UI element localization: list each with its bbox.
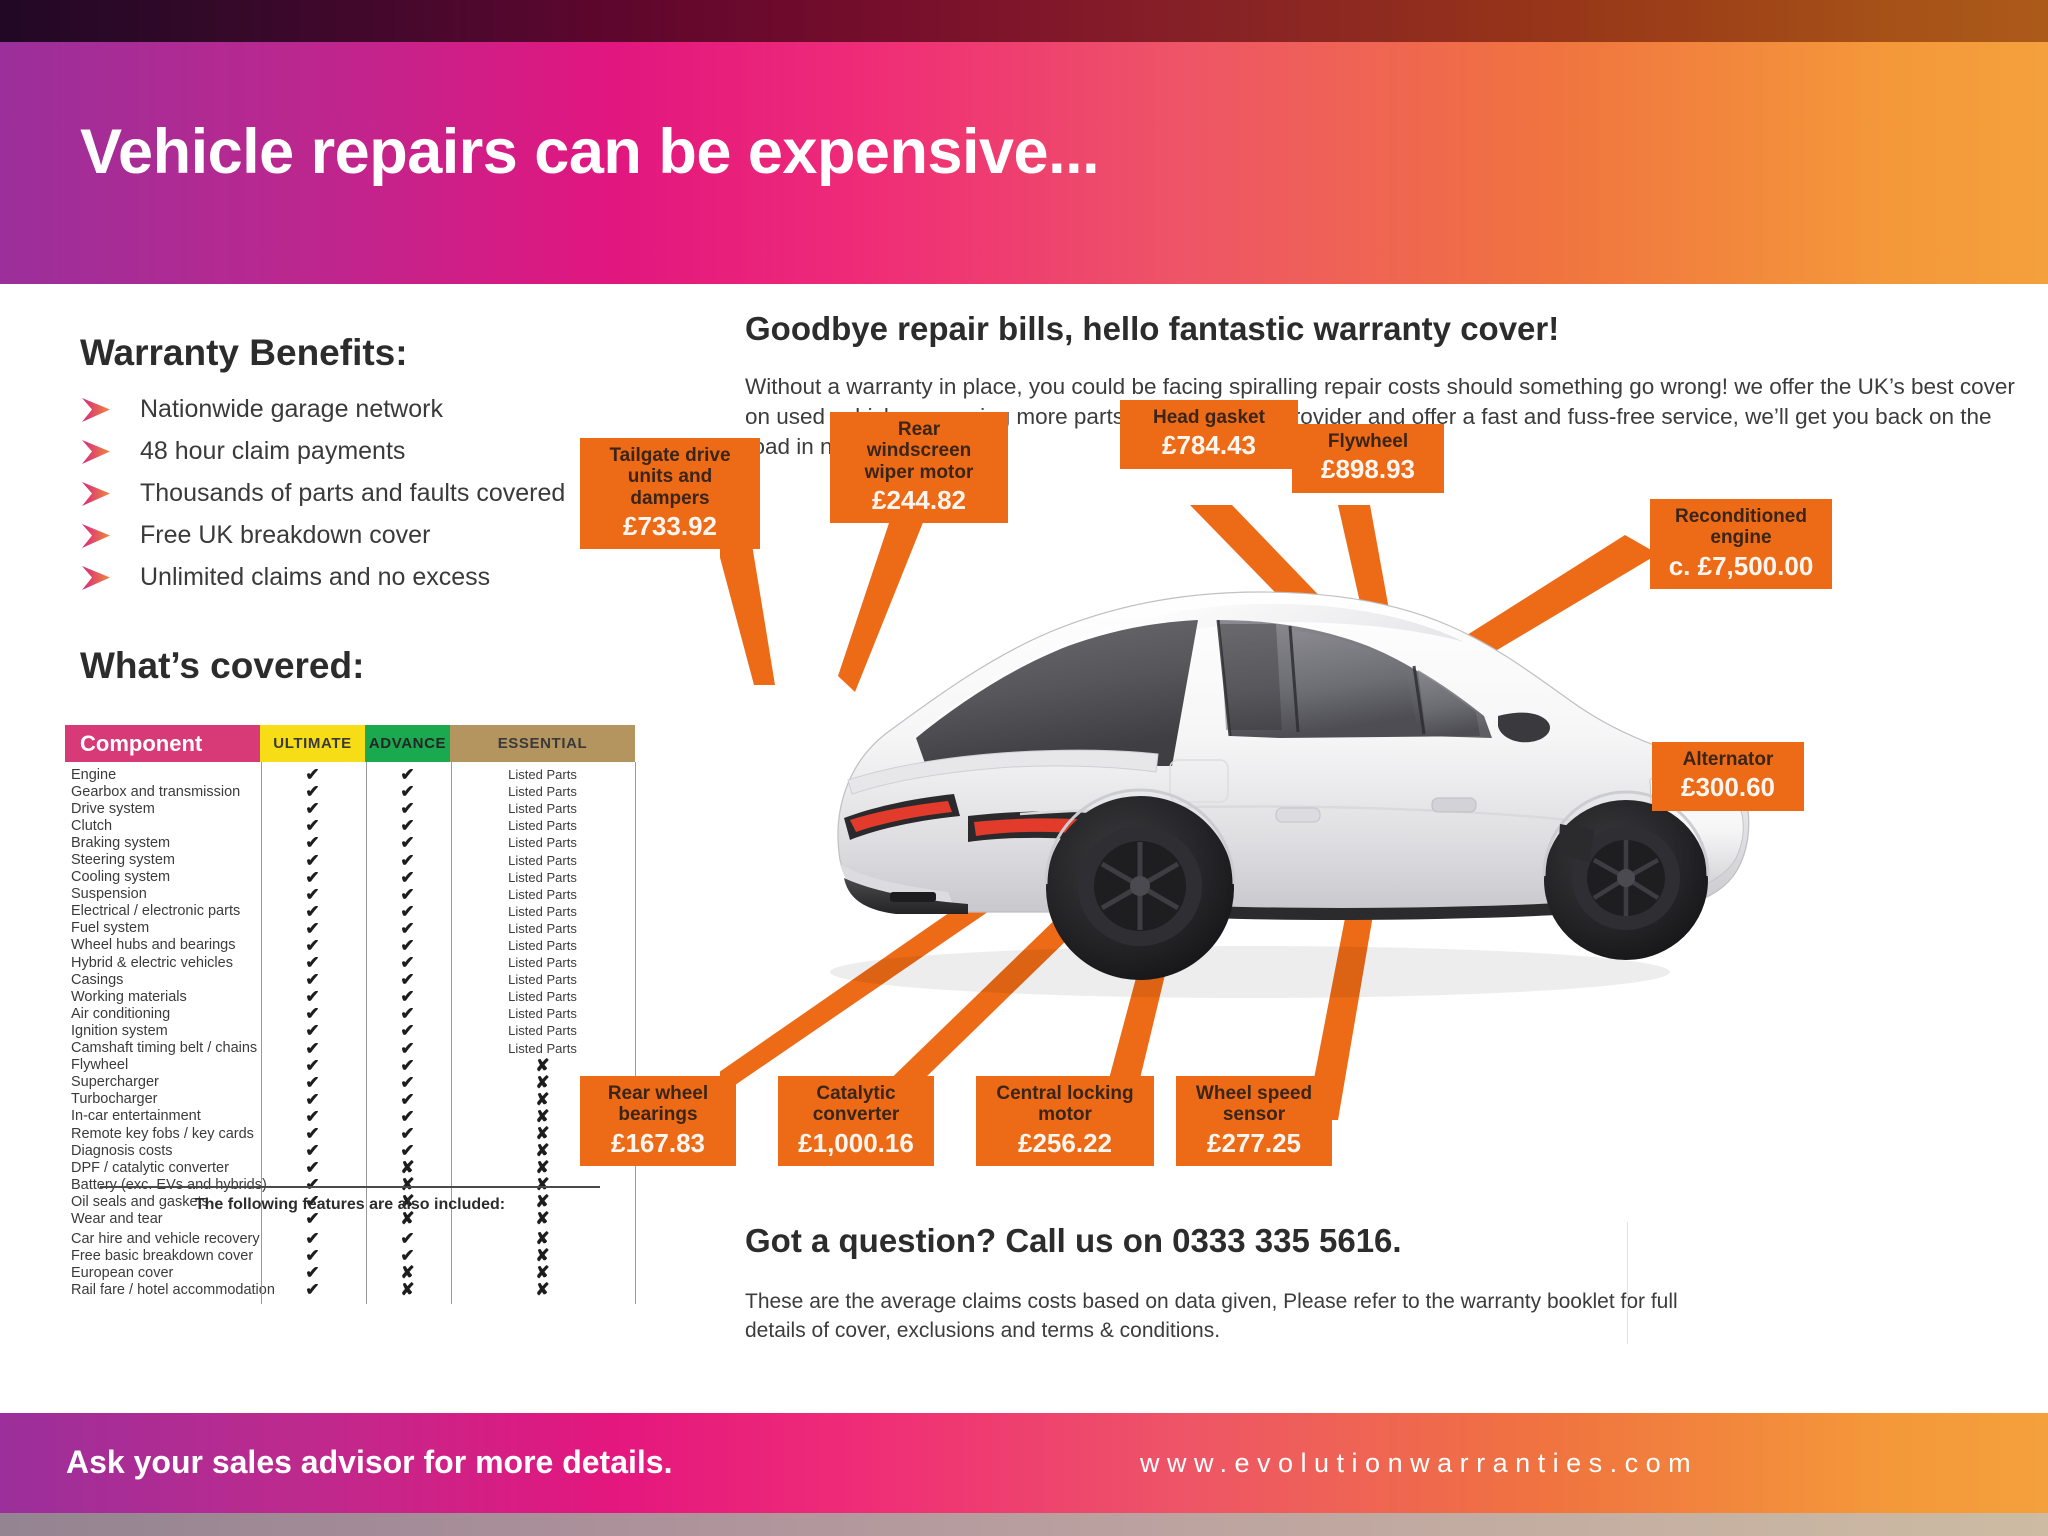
cell-advance: ✔ xyxy=(365,817,450,834)
car-diagram: Tailgate drive units and dampers £733.92… xyxy=(720,480,2040,1180)
callout-alternator: Alternator £300.60 xyxy=(1652,742,1804,811)
cell-ultimate: ✔ xyxy=(260,1264,365,1281)
callout-title: Wheel speed sensor xyxy=(1190,1083,1318,1126)
cell-essential: Listed Parts xyxy=(450,956,635,969)
warranty-benefits-heading: Warranty Benefits: xyxy=(80,332,408,374)
cell-advance: ✔ xyxy=(365,971,450,988)
callout-title: Alternator xyxy=(1683,749,1774,770)
cell-essential: Listed Parts xyxy=(450,922,635,935)
page-title: Vehicle repairs can be expensive... xyxy=(80,116,1099,188)
table-column-divider xyxy=(366,1226,367,1304)
cell-essential: Listed Parts xyxy=(450,939,635,952)
table-row: Flywheel✔✔✘ xyxy=(65,1057,635,1074)
cell-essential: Listed Parts xyxy=(450,819,635,832)
chevron-right-icon xyxy=(80,565,120,591)
cell-component-name: Ignition system xyxy=(65,1023,260,1039)
table-column-divider xyxy=(635,1226,636,1304)
callout-flywheel: Flywheel £898.93 xyxy=(1292,424,1444,493)
vertical-rule xyxy=(1627,1222,1628,1344)
cell-component-name: Air conditioning xyxy=(65,1006,260,1022)
cell-component-name: European cover xyxy=(65,1265,260,1281)
cell-advance: ✔ xyxy=(365,1230,450,1247)
cell-essential: Listed Parts xyxy=(450,785,635,798)
cell-component-name: Clutch xyxy=(65,818,260,834)
cell-essential: Listed Parts xyxy=(450,1024,635,1037)
cell-ultimate: ✔ xyxy=(260,869,365,886)
cell-ultimate: ✔ xyxy=(260,817,365,834)
cell-essential: Listed Parts xyxy=(450,1042,635,1055)
table-row: Rail fare / hotel accommodation✔✘✘ xyxy=(65,1281,635,1298)
cell-component-name: Gearbox and transmission xyxy=(65,784,260,800)
cell-ultimate: ✔ xyxy=(260,1281,365,1298)
cell-ultimate: ✔ xyxy=(260,766,365,783)
cell-ultimate: ✔ xyxy=(260,834,365,851)
cell-advance: ✔ xyxy=(365,1091,450,1108)
cell-advance: ✔ xyxy=(365,869,450,886)
table-row: Free basic breakdown cover✔✔✘ xyxy=(65,1247,635,1264)
table-row: Gearbox and transmission✔✔Listed Parts xyxy=(65,783,635,800)
cell-component-name: DPF / catalytic converter xyxy=(65,1160,260,1176)
cell-ultimate: ✔ xyxy=(260,1125,365,1142)
table-row: Battery (exc. EVs and hybrids)✔✘✘ xyxy=(65,1176,635,1193)
table-column-divider xyxy=(261,762,262,1234)
chevron-right-icon xyxy=(80,523,120,549)
front-wheel xyxy=(1544,800,1708,960)
benefit-item: Nationwide garage network xyxy=(80,388,640,430)
table-row: Electrical / electronic parts✔✔Listed Pa… xyxy=(65,903,635,920)
cell-essential: ✘ xyxy=(450,1176,635,1193)
coverage-table: Component ULTIMATE ADVANCE ESSENTIAL Eng… xyxy=(65,725,635,1228)
cell-advance: ✔ xyxy=(365,920,450,937)
cell-component-name: Electrical / electronic parts xyxy=(65,903,260,919)
table-row: Working materials✔✔Listed Parts xyxy=(65,988,635,1005)
cell-component-name: In-car entertainment xyxy=(65,1108,260,1124)
table-column-divider xyxy=(366,762,367,1234)
cell-component-name: Turbocharger xyxy=(65,1091,260,1107)
cell-advance: ✔ xyxy=(365,852,450,869)
cell-advance: ✔ xyxy=(365,834,450,851)
cell-essential: Listed Parts xyxy=(450,768,635,781)
footer-website-url[interactable]: www.evolutionwarranties.com xyxy=(1140,1448,1698,1479)
cell-advance: ✔ xyxy=(365,766,450,783)
chevron-right-icon xyxy=(80,397,120,423)
features-table-body: Car hire and vehicle recovery✔✔✘Free bas… xyxy=(65,1226,635,1298)
benefit-item: Free UK breakdown cover xyxy=(80,514,640,556)
callout-title: Flywheel xyxy=(1328,431,1408,452)
chevron-right-icon xyxy=(80,481,120,507)
column-header-essential: ESSENTIAL xyxy=(450,725,635,762)
table-row: DPF / catalytic converter✔✘✘ xyxy=(65,1159,635,1176)
column-header-advance: ADVANCE xyxy=(365,725,450,762)
benefit-label: Free UK breakdown cover xyxy=(140,523,430,548)
cell-essential: Listed Parts xyxy=(450,871,635,884)
coverage-table-header: Component ULTIMATE ADVANCE ESSENTIAL xyxy=(65,725,635,762)
callout-rear-wheel-bearings: Rear wheel bearings £167.83 xyxy=(580,1076,736,1166)
cell-essential: Listed Parts xyxy=(450,836,635,849)
coverage-table-body: Engine✔✔Listed PartsGearbox and transmis… xyxy=(65,762,635,1228)
cell-advance: ✔ xyxy=(365,800,450,817)
cell-ultimate: ✔ xyxy=(260,886,365,903)
cell-component-name: Diagnosis costs xyxy=(65,1143,260,1159)
table-row: Drive system✔✔Listed Parts xyxy=(65,800,635,817)
features-table: Car hire and vehicle recovery✔✔✘Free bas… xyxy=(65,1226,635,1298)
table-row: Hybrid & electric vehicles✔✔Listed Parts xyxy=(65,954,635,971)
table-row: Camshaft timing belt / chains✔✔Listed Pa… xyxy=(65,1040,635,1057)
callout-price: £256.22 xyxy=(1018,1129,1112,1158)
cell-ultimate: ✔ xyxy=(260,937,365,954)
cell-essential: ✘ xyxy=(450,1230,635,1247)
benefit-label: Nationwide garage network xyxy=(140,397,443,422)
callout-price: £784.43 xyxy=(1162,431,1256,460)
cell-ultimate: ✔ xyxy=(260,1057,365,1074)
table-column-divider xyxy=(451,1226,452,1304)
callout-title: Catalytic converter xyxy=(792,1083,920,1126)
callout-recon-engine: Reconditioned engine c. £7,500.00 xyxy=(1650,499,1832,589)
cell-ultimate: ✔ xyxy=(260,920,365,937)
column-header-component: Component xyxy=(65,725,260,762)
benefit-item: Unlimited claims and no excess xyxy=(80,556,640,598)
header-top-shade xyxy=(0,0,2048,42)
cell-advance: ✔ xyxy=(365,1247,450,1264)
callout-price: £1,000.16 xyxy=(798,1129,914,1158)
car-body xyxy=(830,592,1749,998)
features-divider xyxy=(100,1186,600,1188)
cell-ultimate: ✔ xyxy=(260,1159,365,1176)
cell-component-name: Cooling system xyxy=(65,869,260,885)
table-row: Turbocharger✔✔✘ xyxy=(65,1091,635,1108)
table-row: European cover✔✘✘ xyxy=(65,1264,635,1281)
table-row: Supercharger✔✔✘ xyxy=(65,1074,635,1091)
cell-advance: ✘ xyxy=(365,1159,450,1176)
benefit-item: 48 hour claim payments xyxy=(80,430,640,472)
table-column-divider xyxy=(261,1226,262,1304)
callout-head-gasket: Head gasket £784.43 xyxy=(1120,400,1298,469)
cell-advance: ✔ xyxy=(365,954,450,971)
callout-price: £898.93 xyxy=(1321,455,1415,484)
table-row: Wheel hubs and bearings✔✔Listed Parts xyxy=(65,937,635,954)
table-row: Suspension✔✔Listed Parts xyxy=(65,886,635,903)
table-row: Engine✔✔Listed Parts xyxy=(65,766,635,783)
cell-advance: ✔ xyxy=(365,1022,450,1039)
cell-advance: ✔ xyxy=(365,937,450,954)
cell-component-name: Remote key fobs / key cards xyxy=(65,1126,260,1142)
cell-component-name: Car hire and vehicle recovery xyxy=(65,1231,260,1247)
table-row: Remote key fobs / key cards✔✔✘ xyxy=(65,1125,635,1142)
table-row: In-car entertainment✔✔✘ xyxy=(65,1108,635,1125)
footer-shadow xyxy=(0,1513,2048,1536)
callout-title: Rear windscreen wiper motor xyxy=(844,419,994,483)
callout-catalytic-converter: Catalytic converter £1,000.16 xyxy=(778,1076,934,1166)
cell-advance: ✔ xyxy=(365,1074,450,1091)
cell-component-name: Flywheel xyxy=(65,1057,260,1073)
callout-rear-wiper: Rear windscreen wiper motor £244.82 xyxy=(830,412,1008,523)
cell-ultimate: ✔ xyxy=(260,1005,365,1022)
cell-ultimate: ✔ xyxy=(260,1142,365,1159)
column-header-ultimate: ULTIMATE xyxy=(260,725,365,762)
cell-component-name: Battery (exc. EVs and hybrids) xyxy=(65,1177,260,1193)
cell-component-name: Braking system xyxy=(65,835,260,851)
table-row: Braking system✔✔Listed Parts xyxy=(65,834,635,851)
rear-wheel xyxy=(1046,796,1234,980)
table-row: Casings✔✔Listed Parts xyxy=(65,971,635,988)
callout-price: £733.92 xyxy=(623,512,717,541)
cell-component-name: Camshaft timing belt / chains xyxy=(65,1040,260,1056)
call-us-heading: Got a question? Call us on 0333 335 5616… xyxy=(745,1222,1402,1260)
cell-ultimate: ✔ xyxy=(260,1176,365,1193)
cell-advance: ✔ xyxy=(365,783,450,800)
cell-ultimate: ✔ xyxy=(260,1108,365,1125)
cell-ultimate: ✔ xyxy=(260,1074,365,1091)
cell-ultimate: ✔ xyxy=(260,1230,365,1247)
cell-component-name: Engine xyxy=(65,767,260,783)
callout-price: c. £7,500.00 xyxy=(1669,552,1814,581)
callout-price: £300.60 xyxy=(1681,773,1775,802)
cell-component-name: Suspension xyxy=(65,886,260,902)
cell-essential: ✘ xyxy=(450,1281,635,1298)
table-row: Ignition system✔✔Listed Parts xyxy=(65,1022,635,1039)
disclaimer-text: These are the average claims costs based… xyxy=(745,1288,1695,1346)
cell-advance: ✔ xyxy=(365,1040,450,1057)
cell-ultimate: ✔ xyxy=(260,800,365,817)
cell-component-name: Steering system xyxy=(65,852,260,868)
cell-advance: ✔ xyxy=(365,1005,450,1022)
table-column-divider xyxy=(451,762,452,1234)
cell-ultimate: ✔ xyxy=(260,903,365,920)
benefit-label: Thousands of parts and faults covered xyxy=(140,481,565,506)
table-row: Air conditioning✔✔Listed Parts xyxy=(65,1005,635,1022)
callout-title: Head gasket xyxy=(1153,407,1265,428)
cell-ultimate: ✔ xyxy=(260,1040,365,1057)
callout-title: Rear wheel bearings xyxy=(594,1083,722,1126)
table-row: Fuel system✔✔Listed Parts xyxy=(65,920,635,937)
callout-tailgate: Tailgate drive units and dampers £733.92 xyxy=(580,438,760,549)
cell-essential: Listed Parts xyxy=(450,888,635,901)
table-row: Car hire and vehicle recovery✔✔✘ xyxy=(65,1230,635,1247)
cell-component-name: Rail fare / hotel accommodation xyxy=(65,1282,260,1298)
table-row: Steering system✔✔Listed Parts xyxy=(65,851,635,868)
cell-component-name: Drive system xyxy=(65,801,260,817)
callout-price: £244.82 xyxy=(872,486,966,515)
cell-essential: Listed Parts xyxy=(450,905,635,918)
cell-advance: ✔ xyxy=(365,1108,450,1125)
cell-essential: ✘ xyxy=(450,1247,635,1264)
cell-ultimate: ✔ xyxy=(260,783,365,800)
callout-central-locking: Central locking motor £256.22 xyxy=(976,1076,1154,1166)
cell-ultimate: ✔ xyxy=(260,1022,365,1039)
cell-advance: ✔ xyxy=(365,1142,450,1159)
cell-advance: ✘ xyxy=(365,1176,450,1193)
cell-ultimate: ✔ xyxy=(260,971,365,988)
cell-advance: ✔ xyxy=(365,1125,450,1142)
callout-title: Central locking motor xyxy=(990,1083,1140,1126)
cell-component-name: Free basic breakdown cover xyxy=(65,1248,260,1264)
cell-component-name: Casings xyxy=(65,972,260,988)
cell-component-name: Supercharger xyxy=(65,1074,260,1090)
table-row: Cooling system✔✔Listed Parts xyxy=(65,869,635,886)
cell-component-name: Wheel hubs and bearings xyxy=(65,937,260,953)
benefit-label: Unlimited claims and no excess xyxy=(140,565,490,590)
whats-covered-heading: What’s covered: xyxy=(80,645,364,687)
goodbye-heading: Goodbye repair bills, hello fantastic wa… xyxy=(745,310,1559,348)
table-row: Clutch✔✔Listed Parts xyxy=(65,817,635,834)
cell-component-name: Working materials xyxy=(65,989,260,1005)
cell-essential: ✘ xyxy=(450,1057,635,1074)
cell-component-name: Hybrid & electric vehicles xyxy=(65,955,260,971)
cell-advance: ✔ xyxy=(365,886,450,903)
cell-advance: ✔ xyxy=(365,903,450,920)
cell-ultimate: ✔ xyxy=(260,988,365,1005)
cell-essential: ✘ xyxy=(450,1264,635,1281)
benefit-item: Thousands of parts and faults covered xyxy=(80,472,640,514)
chevron-right-icon xyxy=(80,439,120,465)
car-illustration-svg xyxy=(720,480,2040,1180)
benefit-label: 48 hour claim payments xyxy=(140,439,405,464)
cell-advance: ✔ xyxy=(365,988,450,1005)
warranty-benefits-list: Nationwide garage network48 hour claim p… xyxy=(80,388,640,598)
cell-component-name: Fuel system xyxy=(65,920,260,936)
cell-advance: ✘ xyxy=(365,1281,450,1298)
cell-ultimate: ✔ xyxy=(260,852,365,869)
cell-ultimate: ✔ xyxy=(260,954,365,971)
cell-essential: Listed Parts xyxy=(450,973,635,986)
table-row: Diagnosis costs✔✔✘ xyxy=(65,1142,635,1159)
callout-price: £277.25 xyxy=(1207,1129,1301,1158)
cell-advance: ✔ xyxy=(365,1057,450,1074)
callout-price: £167.83 xyxy=(611,1129,705,1158)
cell-essential: Listed Parts xyxy=(450,854,635,867)
callout-wheel-speed-sensor: Wheel speed sensor £277.25 xyxy=(1176,1076,1332,1166)
cell-essential: Listed Parts xyxy=(450,990,635,1003)
footer-cta-text: Ask your sales advisor for more details. xyxy=(66,1444,672,1481)
features-subheading: The following features are also included… xyxy=(65,1196,635,1214)
cell-advance: ✘ xyxy=(365,1264,450,1281)
callout-title: Reconditioned engine xyxy=(1664,506,1818,549)
callout-title: Tailgate drive units and dampers xyxy=(594,445,746,509)
cell-essential: Listed Parts xyxy=(450,1007,635,1020)
cell-ultimate: ✔ xyxy=(260,1091,365,1108)
cell-essential: Listed Parts xyxy=(450,802,635,815)
cell-ultimate: ✔ xyxy=(260,1247,365,1264)
